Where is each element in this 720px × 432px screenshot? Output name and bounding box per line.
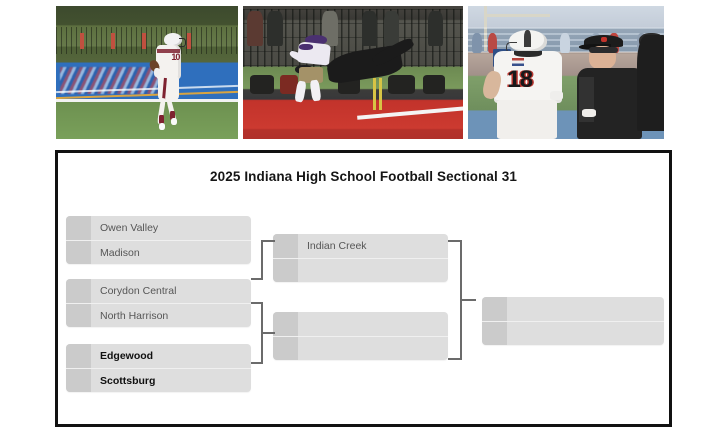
team-name: Owen Valley: [91, 222, 251, 234]
score-cell: [273, 337, 298, 360]
helmet-stripe: [524, 30, 531, 47]
connector-vertical: [261, 240, 263, 280]
equipment-bag: [250, 75, 274, 94]
score-cell: [482, 297, 507, 321]
bracket-slot[interactable]: Edgewood: [66, 344, 251, 368]
score-cell: [482, 322, 507, 345]
second-coach-figure: [637, 35, 665, 131]
bystander: [428, 11, 443, 46]
wristband: [582, 109, 596, 116]
bracket-slot[interactable]: Scottsburg: [66, 368, 251, 392]
connector-horizontal: [261, 332, 275, 334]
equipment-bag: [423, 75, 445, 94]
score-cell: [273, 234, 298, 258]
cleat: [171, 118, 177, 125]
goalpost-crossbar: [484, 14, 551, 17]
score-cell: [66, 241, 91, 264]
score-cell: [66, 369, 91, 392]
photo-strip: 10: [55, 5, 665, 140]
bracket-connector-r1a-r2a: [251, 240, 275, 280]
team-name: Madison: [91, 247, 251, 259]
bracket-slot[interactable]: Owen Valley: [66, 216, 251, 240]
bracket-card: 2025 Indiana High School Football Sectio…: [55, 150, 672, 427]
match-r1-3[interactable]: Edgewood Scottsburg: [66, 344, 251, 392]
bracket-slot[interactable]: [482, 321, 664, 345]
yellow-marker: [373, 78, 376, 110]
bystander: [247, 11, 262, 46]
yellow-marker: [379, 78, 382, 110]
connector-horizontal: [251, 278, 263, 280]
pants: [497, 100, 556, 139]
connector-horizontal: [460, 299, 476, 301]
score-cell: [273, 259, 298, 282]
match-r2-2[interactable]: [273, 312, 448, 360]
sunglasses: [589, 47, 618, 52]
bystander: [384, 11, 399, 46]
connector-horizontal: [261, 240, 275, 242]
jersey-number: 10: [171, 52, 179, 62]
match-final[interactable]: [482, 297, 664, 345]
score-cell: [66, 216, 91, 240]
bystander: [267, 11, 282, 46]
sideline-marker: [111, 33, 115, 49]
player-figure: 18: [488, 30, 570, 139]
connector-horizontal: [448, 358, 462, 360]
facemask: [179, 38, 186, 47]
equipment-bag: [388, 75, 414, 94]
bracket-slot[interactable]: [273, 312, 448, 336]
team-name: Edgewood: [91, 350, 251, 362]
score-cell: [66, 344, 91, 368]
team-name: Indian Creek: [298, 240, 448, 252]
bracket-slot[interactable]: [273, 336, 448, 360]
collar: [514, 51, 542, 58]
photo-receiver-running: 10: [55, 5, 239, 140]
bracket-slot[interactable]: North Harrison: [66, 303, 251, 327]
jersey-number: 18: [507, 66, 532, 94]
bracket-slot[interactable]: [482, 297, 664, 321]
bracket-connector-r2-final: [448, 240, 484, 360]
score-cell: [273, 312, 298, 336]
leg: [294, 81, 306, 103]
match-r1-2[interactable]: Corydon Central North Harrison: [66, 279, 251, 327]
connector-horizontal: [251, 302, 263, 304]
player-figure: 10: [140, 33, 195, 131]
spectator: [472, 33, 482, 53]
ball-carrier-figure: [291, 35, 339, 109]
bracket-connector-r1bc-r2b: [251, 302, 275, 364]
cap-logo: [601, 37, 607, 42]
connector-horizontal: [448, 240, 462, 242]
sideline-marker: [80, 33, 84, 49]
shoulder-pad: [299, 44, 313, 50]
bystander: [362, 11, 377, 46]
bracket-slot[interactable]: Madison: [66, 240, 251, 264]
bracket-slot[interactable]: Indian Creek: [273, 234, 448, 258]
team-name: North Harrison: [91, 310, 251, 322]
flag-patch: [512, 58, 524, 66]
match-r2-1[interactable]: Indian Creek: [273, 234, 448, 282]
team-name: Corydon Central: [91, 285, 251, 297]
photo-endzone-tackle: [242, 5, 464, 140]
photo-quarterback-and-coach: 18: [467, 5, 665, 140]
match-r1-1[interactable]: Owen Valley Madison: [66, 216, 251, 264]
bracket-body: Owen Valley Madison Corydon Central Nort…: [58, 184, 669, 416]
glove: [154, 68, 160, 77]
screenshot-root: 10: [0, 0, 720, 432]
bracket-slot[interactable]: [273, 258, 448, 282]
team-name: Scottsburg: [91, 375, 251, 387]
bracket-title: 2025 Indiana High School Football Sectio…: [58, 169, 669, 184]
armband: [550, 91, 563, 100]
bracket-slot[interactable]: Corydon Central: [66, 279, 251, 303]
score-cell: [66, 279, 91, 303]
connector-horizontal: [251, 362, 263, 364]
cleat: [159, 123, 165, 130]
score-cell: [66, 304, 91, 327]
